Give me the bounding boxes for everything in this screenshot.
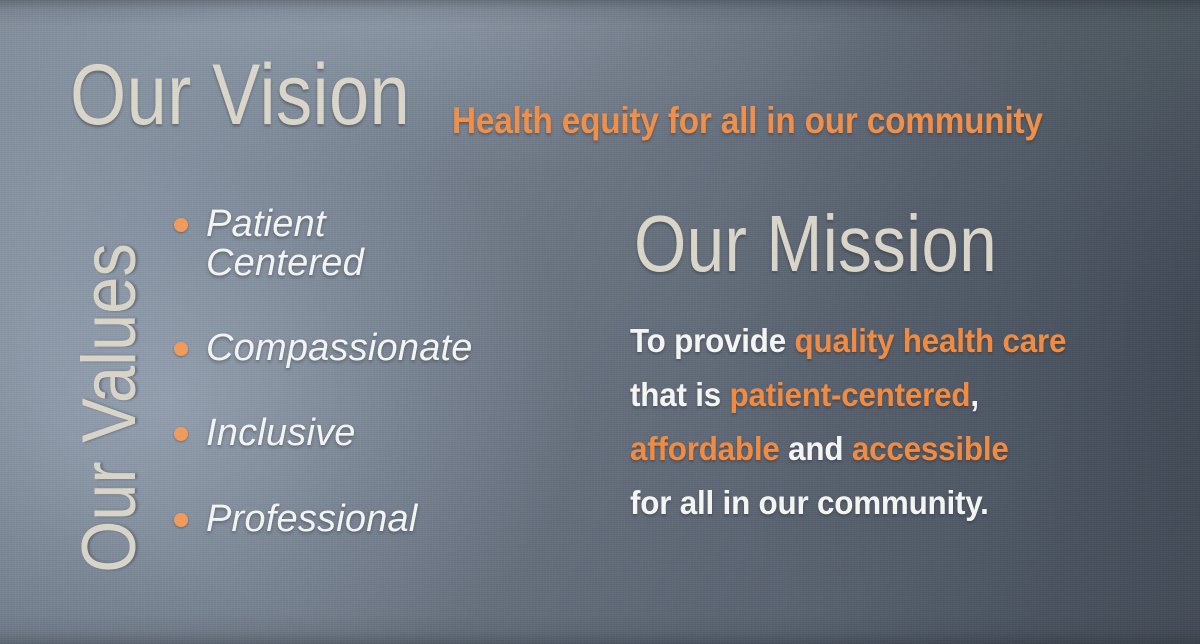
mission-highlight-text: patient-centered <box>730 376 971 413</box>
values-list: Patient Centered Compassionate Inclusive… <box>170 205 590 539</box>
our-vision-heading: Our Vision <box>70 52 410 138</box>
mission-line: affordable and accessible <box>630 422 1143 476</box>
mission-statement-text: To provide quality health carethat is pa… <box>630 314 1143 530</box>
bullet-dot-icon <box>174 513 188 527</box>
mission-plain-text: for all in our community. <box>630 484 989 521</box>
mission-highlight-text: affordable <box>630 430 780 467</box>
value-label-line1: Professional <box>206 500 590 539</box>
list-item: Professional <box>170 500 590 539</box>
mission-highlight-text: quality health care <box>795 322 1067 359</box>
value-label-line1: Compassionate <box>206 329 590 368</box>
wall-signage-panel: Our Vision Health equity for all in our … <box>0 0 1200 644</box>
our-mission-heading: Our Mission <box>634 204 997 284</box>
list-item: Patient Centered <box>170 205 590 283</box>
mission-highlight-text: accessible <box>852 430 1009 467</box>
value-label-line1: Inclusive <box>206 414 590 453</box>
our-values-vertical-label: Our Values <box>72 232 148 584</box>
bullet-dot-icon <box>174 218 188 232</box>
mission-line: that is patient-centered, <box>630 368 1143 422</box>
list-item: Inclusive <box>170 414 590 453</box>
bullet-dot-icon <box>174 427 188 441</box>
bullet-dot-icon <box>174 342 188 356</box>
mission-line: To provide quality health care <box>630 314 1143 368</box>
mission-plain-text: , <box>970 376 979 413</box>
mission-plain-text: To provide <box>630 322 795 359</box>
mission-plain-text: and <box>780 430 852 467</box>
mission-line: for all in our community. <box>630 476 1143 530</box>
mission-plain-text: that is <box>630 376 730 413</box>
vision-tagline-text: Health equity for all in our community <box>452 100 1043 142</box>
value-label-line1: Patient <box>206 205 590 244</box>
value-label-line2: Centered <box>206 244 590 283</box>
list-item: Compassionate <box>170 329 590 368</box>
